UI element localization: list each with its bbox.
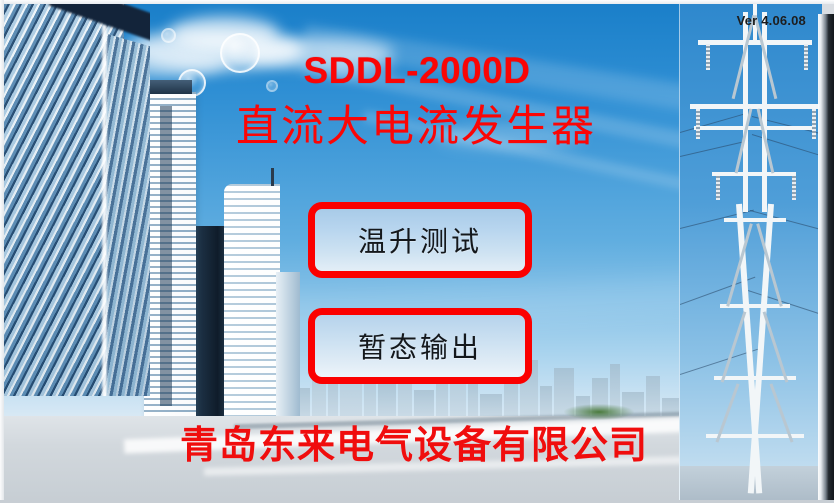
version-label: Ver 4.06.08 xyxy=(737,13,806,28)
antenna-icon xyxy=(271,168,274,186)
window-right-border xyxy=(818,14,834,503)
bubble-icon xyxy=(161,28,176,43)
temperature-rise-test-button-label: 温升测试 xyxy=(358,220,482,260)
splash-screen-canvas: Ver 4.06.08 SDDL-2000D 直流大电流发生器 温升测试 暂态输… xyxy=(4,4,822,500)
application-window: Ver 4.06.08 SDDL-2000D 直流大电流发生器 温升测试 暂态输… xyxy=(0,0,834,503)
page-title: SDDL-2000D xyxy=(4,52,822,89)
product-subtitle: 直流大电流发生器 xyxy=(4,104,822,151)
transient-output-button[interactable]: 暂态输出 xyxy=(308,308,532,384)
power-line xyxy=(748,290,821,314)
insulator-icon xyxy=(792,176,796,200)
office-building-icon xyxy=(224,184,280,422)
office-building-icon xyxy=(276,272,300,422)
company-name: 青岛东来电气设备有限公司 xyxy=(4,426,822,464)
pylon-brace xyxy=(721,311,747,382)
tree-icon xyxy=(564,404,634,420)
transient-output-button-label: 暂态输出 xyxy=(358,326,482,366)
pylon-crossarm xyxy=(698,40,812,45)
insulator-icon xyxy=(716,176,720,200)
pylon-crossarm xyxy=(724,218,786,222)
pylon-crossarm xyxy=(712,172,796,176)
temperature-rise-test-button[interactable]: 温升测试 xyxy=(308,202,532,278)
cloud-icon xyxy=(169,16,279,50)
pylon-brace xyxy=(763,311,789,382)
